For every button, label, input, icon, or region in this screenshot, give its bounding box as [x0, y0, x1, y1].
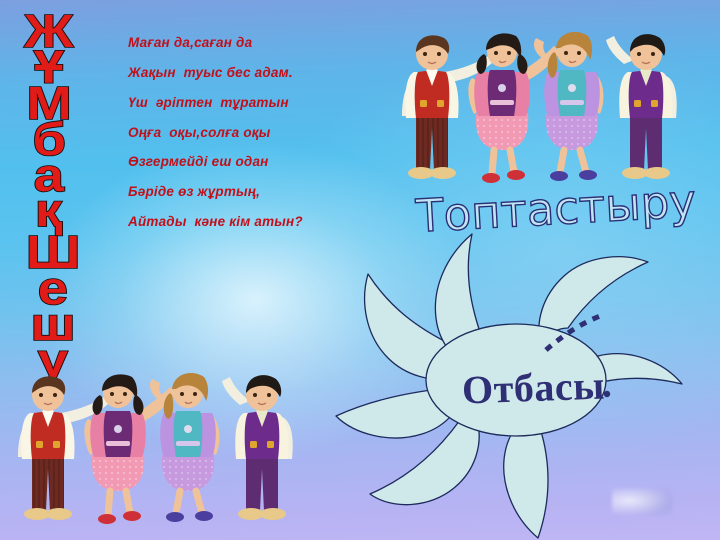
- riddle-text-block: Маған да,саған да Жақын туыс бес адам. Ү…: [128, 36, 398, 245]
- child-figure: [534, 32, 603, 181]
- wordart-zhumbak: Ж Ұ М б а қ: [28, 14, 70, 229]
- slide-canvas: Ж Ұ М б а қ Ш е ш у Маған да,саған да Жа…: [0, 0, 720, 540]
- child-figure: [606, 34, 677, 179]
- riddle-line: Үш әріптен тұратын: [128, 96, 398, 111]
- children-illustration-top-right: [388, 18, 688, 188]
- riddle-line: Бәріде өз жұртың,: [128, 185, 398, 200]
- riddle-line: Айтады кәне кім атын?: [128, 215, 398, 230]
- children-illustration-bottom-left: [4, 358, 304, 530]
- riddle-line: Маған да,саған да: [128, 36, 398, 51]
- wordart-sheshu: Ш е ш у: [30, 235, 76, 379]
- riddle-line: Өзгермейді еш одан: [128, 155, 398, 170]
- riddle-line: Оңға оқы,солға оқы: [128, 126, 398, 141]
- riddle-line: Жақын туыс бес адам.: [128, 66, 398, 81]
- child-figure: [222, 375, 293, 520]
- child-figure: [150, 373, 219, 522]
- background-artifact: [612, 488, 672, 516]
- wordart-otbasy: Отбасы: [461, 362, 605, 414]
- wordart-zhumbak-letter: қ: [35, 193, 62, 229]
